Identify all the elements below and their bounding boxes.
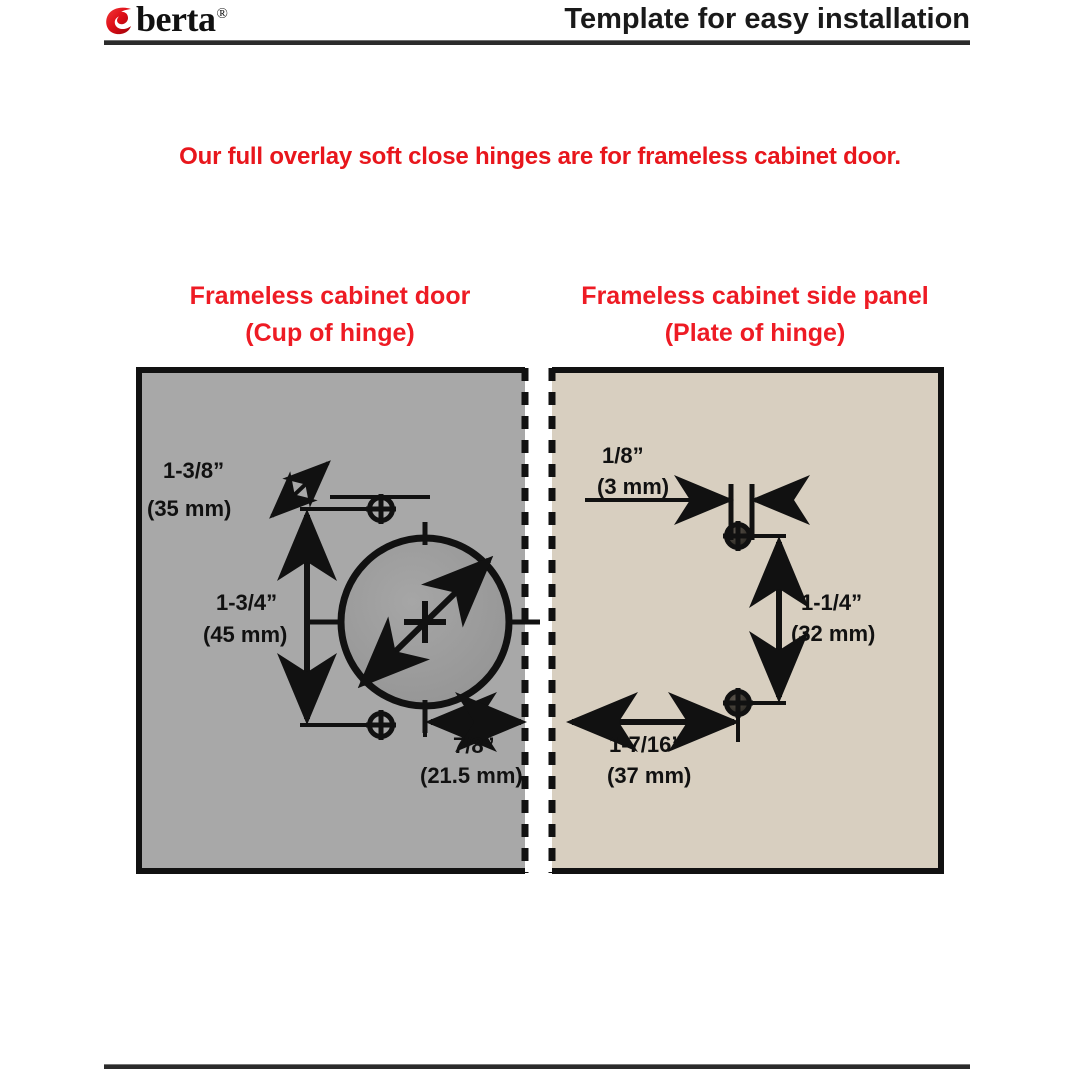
side-panel-group: 1/8” (3 mm) 1-1/4” (32 mm) 1-7/16” (37 m…: [552, 368, 944, 873]
installation-template-diagram: 1-3/8” (35 mm) 1-3/4” (45 mm) 7/8” (21.5…: [0, 0, 1080, 1080]
plate-spacing-label-imperial: 1-1/4”: [801, 590, 862, 615]
plate-offset-label-metric: (3 mm): [597, 474, 669, 499]
screw-spacing-label-metric: (45 mm): [203, 622, 287, 647]
plate-front-label-imperial: 1-7/16”: [609, 732, 682, 757]
cup-diameter-label-imperial: 1-3/8”: [163, 458, 224, 483]
cup-edge-label-metric: (21.5 mm): [420, 763, 523, 788]
plate-spacing-label-metric: (32 mm): [791, 621, 875, 646]
screw-spacing-label-imperial: 1-3/4”: [216, 590, 277, 615]
door-panel-group: 1-3/8” (35 mm) 1-3/4” (45 mm) 7/8” (21.5…: [136, 368, 540, 873]
cup-diameter-label-metric: (35 mm): [147, 496, 231, 521]
cup-edge-label-imperial: 7/8”: [453, 733, 495, 758]
footer-divider: [104, 1064, 970, 1069]
plate-offset-label-imperial: 1/8”: [602, 443, 644, 468]
plate-front-label-metric: (37 mm): [607, 763, 691, 788]
